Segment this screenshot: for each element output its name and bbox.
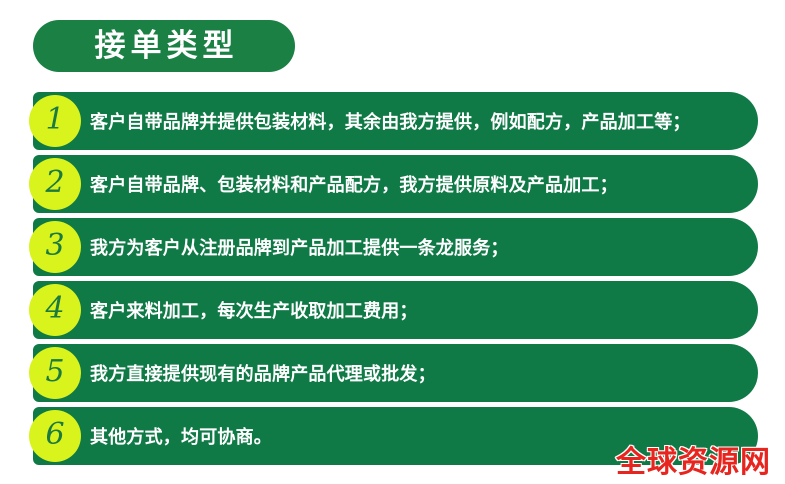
list-item: 2 客户自带品牌、包装材料和产品配方，我方提供原料及产品加工； bbox=[0, 155, 785, 213]
row-number-badge: 5 bbox=[29, 347, 81, 399]
header-badge: 接单类型 bbox=[33, 20, 295, 72]
row-description: 我方直接提供现有的品牌产品代理或批发； bbox=[90, 344, 755, 402]
row-number-label: 5 bbox=[45, 357, 64, 390]
poster-canvas: 接单类型 1 客户自带品牌并提供包装材料，其余由我方提供，例如配方，产品加工等；… bbox=[0, 0, 785, 484]
row-number-label: 2 bbox=[45, 168, 64, 201]
row-number-badge: 4 bbox=[29, 284, 81, 336]
row-description: 客户自带品牌并提供包装材料，其余由我方提供，例如配方，产品加工等； bbox=[90, 92, 755, 150]
list-item: 3 我方为客户从注册品牌到产品加工提供一条龙服务； bbox=[0, 218, 785, 276]
row-number-badge: 6 bbox=[29, 410, 81, 462]
row-number-label: 1 bbox=[45, 105, 64, 138]
order-type-list: 1 客户自带品牌并提供包装材料，其余由我方提供，例如配方，产品加工等； 2 客户… bbox=[0, 92, 785, 470]
row-description: 我方为客户从注册品牌到产品加工提供一条龙服务； bbox=[90, 218, 755, 276]
list-item: 1 客户自带品牌并提供包装材料，其余由我方提供，例如配方，产品加工等； bbox=[0, 92, 785, 150]
row-number-label: 3 bbox=[45, 231, 64, 264]
row-number-label: 4 bbox=[45, 294, 64, 327]
list-item: 4 客户来料加工，每次生产收取加工费用； bbox=[0, 281, 785, 339]
page-title: 接单类型 bbox=[90, 31, 239, 62]
list-item: 5 我方直接提供现有的品牌产品代理或批发； bbox=[0, 344, 785, 402]
row-description: 客户来料加工，每次生产收取加工费用； bbox=[90, 281, 755, 339]
row-number-badge: 2 bbox=[29, 158, 81, 210]
row-description: 客户自带品牌、包装材料和产品配方，我方提供原料及产品加工； bbox=[90, 155, 755, 213]
site-watermark: 全球资源网 bbox=[616, 448, 771, 478]
row-number-badge: 1 bbox=[29, 95, 81, 147]
row-number-label: 6 bbox=[45, 420, 64, 453]
row-number-badge: 3 bbox=[29, 221, 81, 273]
